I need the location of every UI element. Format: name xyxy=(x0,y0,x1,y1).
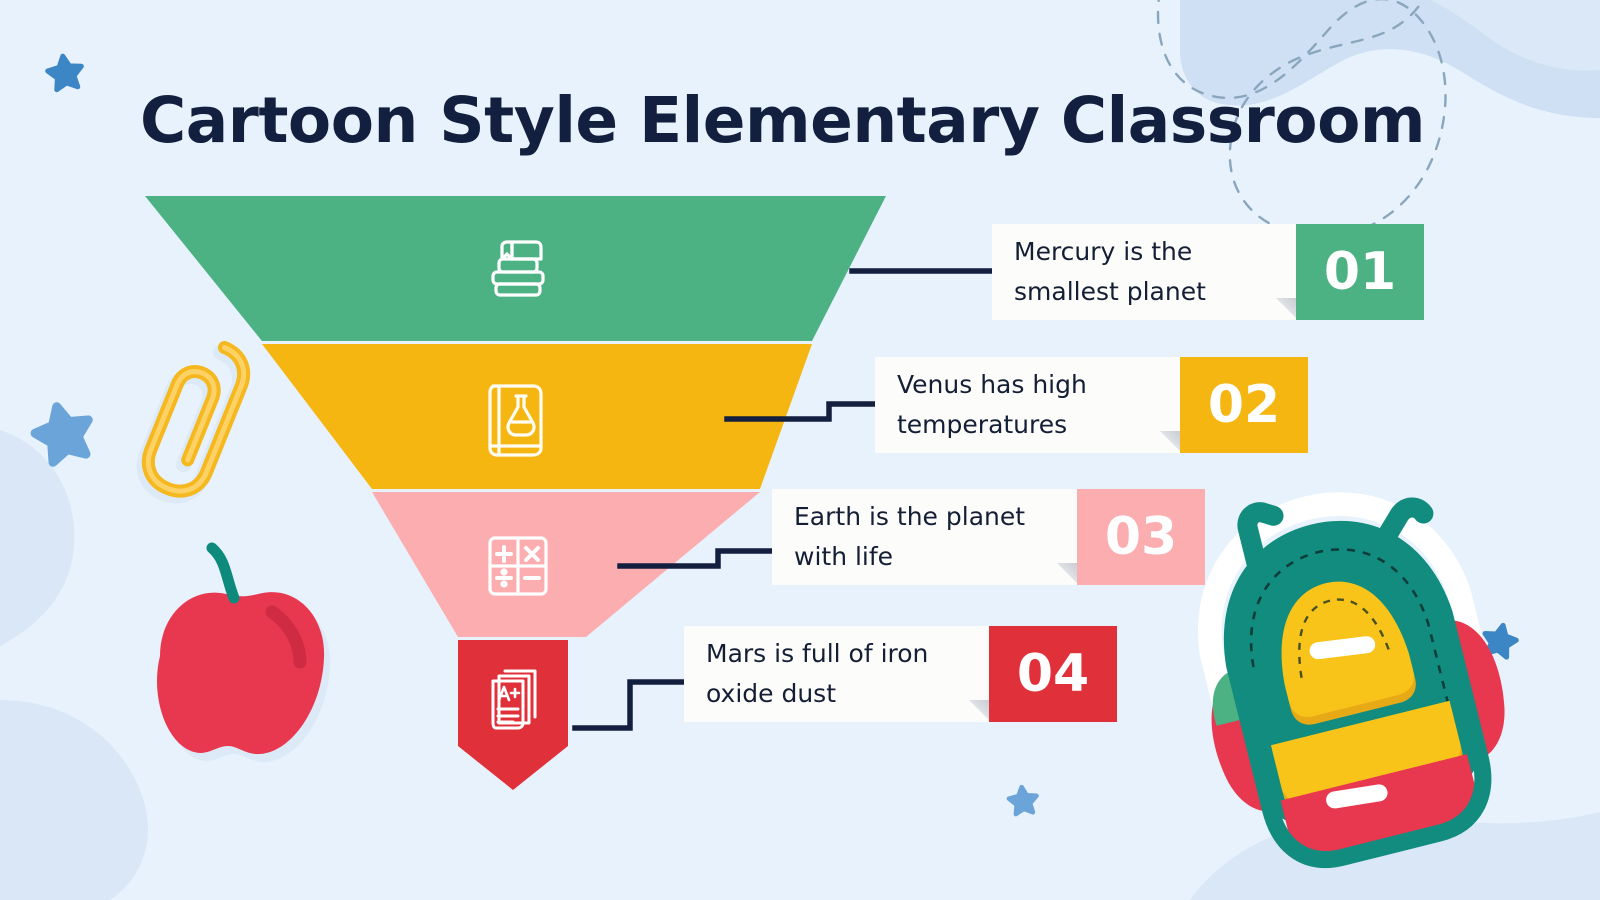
card-fold-corner-2 xyxy=(1158,431,1180,453)
label-text-box-2: Venus has high temperatures xyxy=(875,357,1180,453)
label-number-1: 01 xyxy=(1296,224,1424,320)
label-line-3a: Earth is the planet xyxy=(794,497,1057,538)
funnel-label-card-4[interactable]: Mars is full of iron oxide dust 04 xyxy=(684,626,1117,722)
label-line-2b: temperatures xyxy=(897,405,1160,446)
card-fold-corner-4 xyxy=(967,700,989,722)
label-number-2: 02 xyxy=(1180,357,1308,453)
label-text-box-1: Mercury is the smallest planet xyxy=(992,224,1296,320)
connector-line-2 xyxy=(727,404,880,419)
page-title: Cartoon Style Elementary Classroom xyxy=(140,88,1440,154)
funnel-label-card-2[interactable]: Venus has high temperatures 02 xyxy=(875,357,1308,453)
label-text-box-4: Mars is full of iron oxide dust xyxy=(684,626,989,722)
label-line-4a: Mars is full of iron xyxy=(706,634,969,675)
funnel-label-card-3[interactable]: Earth is the planet with life 03 xyxy=(772,489,1205,585)
label-line-1a: Mercury is the xyxy=(1014,232,1276,273)
label-line-1b: smallest planet xyxy=(1014,272,1276,313)
label-number-4: 04 xyxy=(989,626,1117,722)
label-number-3: 03 xyxy=(1077,489,1205,585)
label-line-4b: oxide dust xyxy=(706,674,969,715)
label-text-box-3: Earth is the planet with life xyxy=(772,489,1077,585)
connector-line-4 xyxy=(575,682,684,728)
slide-canvas: Cartoon Style Elementary Classroom Mercu… xyxy=(0,0,1600,900)
label-line-3b: with life xyxy=(794,537,1057,578)
label-line-2a: Venus has high xyxy=(897,365,1160,406)
funnel-label-card-1[interactable]: Mercury is the smallest planet 01 xyxy=(992,224,1424,320)
card-fold-corner-1 xyxy=(1274,298,1296,320)
connector-line-3 xyxy=(620,551,772,566)
card-fold-corner-3 xyxy=(1055,563,1077,585)
